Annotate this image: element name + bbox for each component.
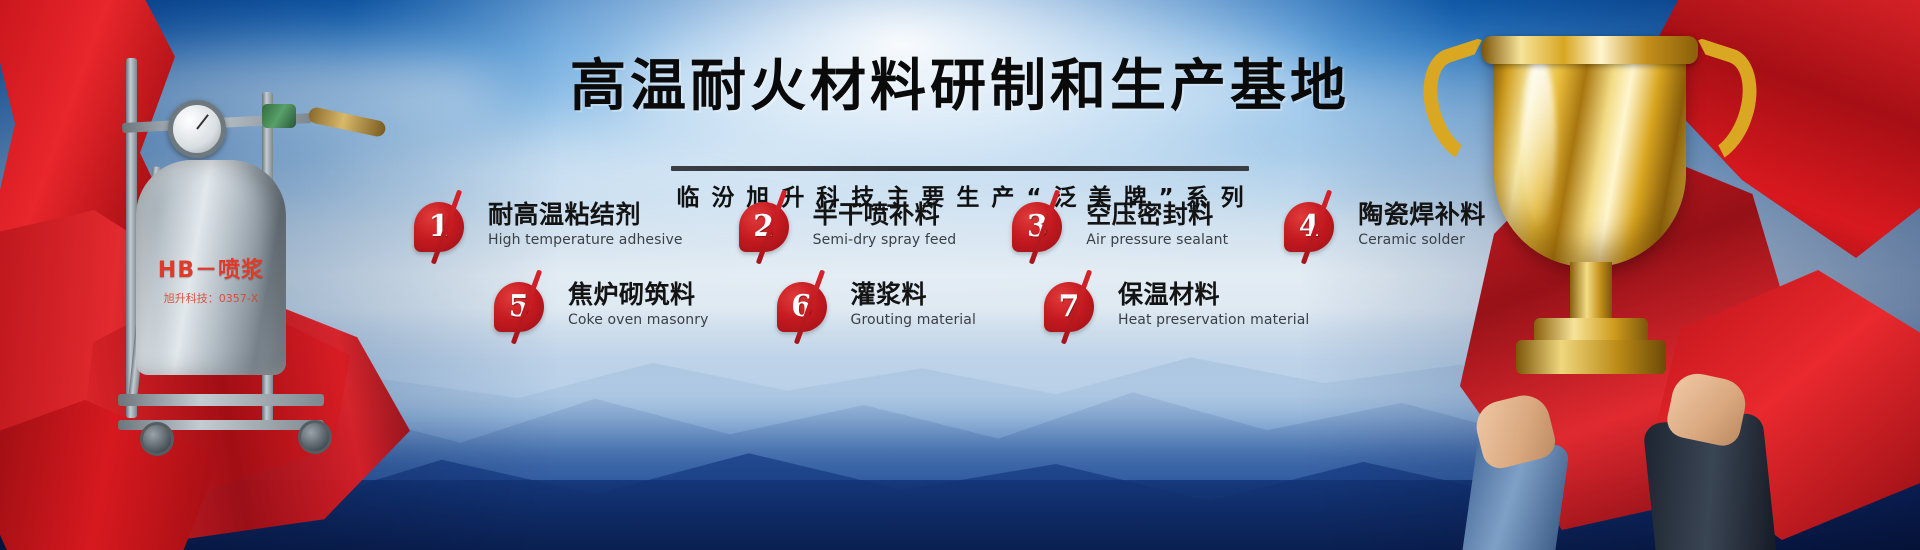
banner-title: 高温耐火材料研制和生产基地 — [0, 58, 1920, 114]
product-item[interactable]: 2 半干喷补料 Semi-dry spray feed — [739, 200, 957, 252]
product-labels: 保温材料 Heat preservation material — [1118, 280, 1309, 329]
product-name-cn: 耐高温粘结剂 — [488, 201, 683, 229]
product-name-cn: 焦炉砌筑料 — [568, 281, 709, 309]
banner-content: 高温耐火材料研制和生产基地 临汾旭升科技主要生产“泛美牌”系列 1 耐高温粘结剂… — [0, 0, 1920, 550]
product-number-badge: 7 — [1044, 282, 1094, 332]
product-labels: 空压密封料 Air pressure sealant — [1086, 200, 1228, 249]
promo-banner: HB－喷浆 旭升科技：0357-X 高温耐火材料研制和生产基地 临汾旭升科技主要… — [0, 0, 1920, 550]
product-list-row-1: 1 耐高温粘结剂 High temperature adhesive 2 半干喷… — [414, 200, 1486, 252]
product-list-row-2: 5 焦炉砌筑料 Coke oven masonry 6 灌浆料 Grouting… — [494, 280, 1309, 332]
product-number-badge: 6 — [777, 282, 827, 332]
product-number-badge: 1 — [414, 202, 464, 252]
product-name-en: Heat preservation material — [1118, 312, 1309, 329]
product-name-en: Air pressure sealant — [1086, 232, 1228, 249]
product-name-cn: 空压密封料 — [1086, 201, 1228, 229]
product-number-badge: 4 — [1284, 202, 1334, 252]
product-number-badge: 5 — [494, 282, 544, 332]
title-divider — [671, 166, 1249, 171]
product-labels: 耐高温粘结剂 High temperature adhesive — [488, 200, 683, 249]
product-number-badge: 2 — [739, 202, 789, 252]
product-item[interactable]: 5 焦炉砌筑料 Coke oven masonry — [494, 280, 709, 332]
product-item[interactable]: 7 保温材料 Heat preservation material — [1044, 280, 1309, 332]
product-name-cn: 半干喷补料 — [813, 201, 957, 229]
product-name-cn: 灌浆料 — [851, 281, 976, 309]
product-name-en: Coke oven masonry — [568, 312, 709, 329]
product-name-en: Semi-dry spray feed — [813, 232, 957, 249]
product-number-badge: 3 — [1012, 202, 1062, 252]
product-name-en: Ceramic solder — [1358, 232, 1486, 249]
product-item[interactable]: 6 灌浆料 Grouting material — [777, 280, 976, 332]
product-item[interactable]: 4 陶瓷焊补料 Ceramic solder — [1284, 200, 1486, 252]
product-labels: 焦炉砌筑料 Coke oven masonry — [568, 280, 709, 329]
product-labels: 半干喷补料 Semi-dry spray feed — [813, 200, 957, 249]
product-name-cn: 保温材料 — [1118, 281, 1309, 309]
product-item[interactable]: 1 耐高温粘结剂 High temperature adhesive — [414, 200, 683, 252]
product-labels: 灌浆料 Grouting material — [851, 280, 976, 329]
product-name-cn: 陶瓷焊补料 — [1358, 201, 1486, 229]
product-name-en: Grouting material — [851, 312, 976, 329]
product-item[interactable]: 3 空压密封料 Air pressure sealant — [1012, 200, 1228, 252]
product-name-en: High temperature adhesive — [488, 232, 683, 249]
product-labels: 陶瓷焊补料 Ceramic solder — [1358, 200, 1486, 249]
